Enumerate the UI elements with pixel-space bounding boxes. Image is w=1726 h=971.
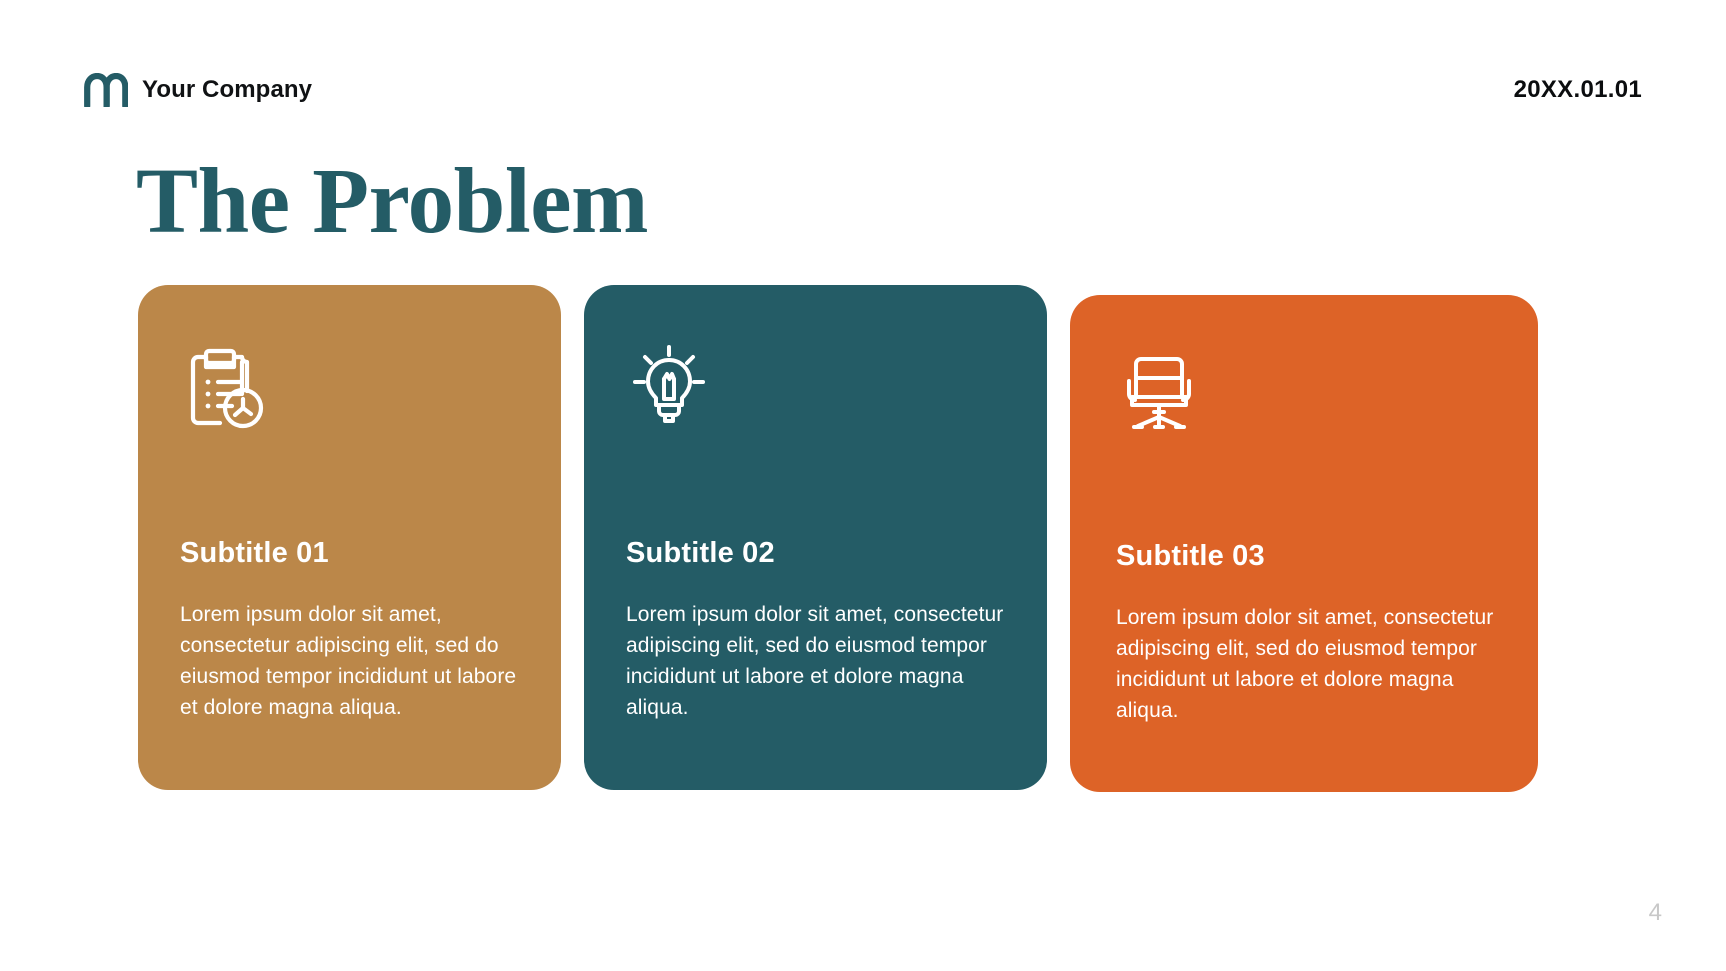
office-chair-icon xyxy=(1116,347,1202,433)
slide-canvas: Your Company 20XX.01.01 The Problem xyxy=(0,0,1726,971)
card-body: Subtitle 01 Lorem ipsum dolor sit amet, … xyxy=(180,537,527,723)
card-subtitle-01[interactable]: Subtitle 01 Lorem ipsum dolor sit amet, … xyxy=(138,285,561,790)
card-subtitle-02[interactable]: Subtitle 02 Lorem ipsum dolor sit amet, … xyxy=(584,285,1047,790)
slide-date: 20XX.01.01 xyxy=(1514,76,1642,104)
company-m-logo-icon xyxy=(84,73,128,107)
card-subtitle: Subtitle 03 xyxy=(1116,540,1504,573)
card-body: Subtitle 03 Lorem ipsum dolor sit amet, … xyxy=(1116,540,1504,726)
cards-container: Subtitle 01 Lorem ipsum dolor sit amet, … xyxy=(138,285,1593,805)
card-body: Subtitle 02 Lorem ipsum dolor sit amet, … xyxy=(626,537,1013,723)
brand-block: Your Company xyxy=(84,73,312,107)
clipboard-checklist-clock-icon xyxy=(180,345,266,431)
page-title: The Problem xyxy=(136,155,648,248)
card-text: Lorem ipsum dolor sit amet, consectetur … xyxy=(180,599,527,723)
page-number: 4 xyxy=(1649,899,1662,927)
slide-header: Your Company 20XX.01.01 xyxy=(84,68,1642,112)
card-text: Lorem ipsum dolor sit amet, consectetur … xyxy=(1116,602,1504,726)
card-subtitle: Subtitle 02 xyxy=(626,537,1013,570)
lightbulb-idea-icon xyxy=(626,341,712,427)
card-text: Lorem ipsum dolor sit amet, consectetur … xyxy=(626,599,1013,723)
brand-name: Your Company xyxy=(142,76,312,104)
card-subtitle: Subtitle 01 xyxy=(180,537,527,570)
card-subtitle-03[interactable]: Subtitle 03 Lorem ipsum dolor sit amet, … xyxy=(1070,295,1538,792)
